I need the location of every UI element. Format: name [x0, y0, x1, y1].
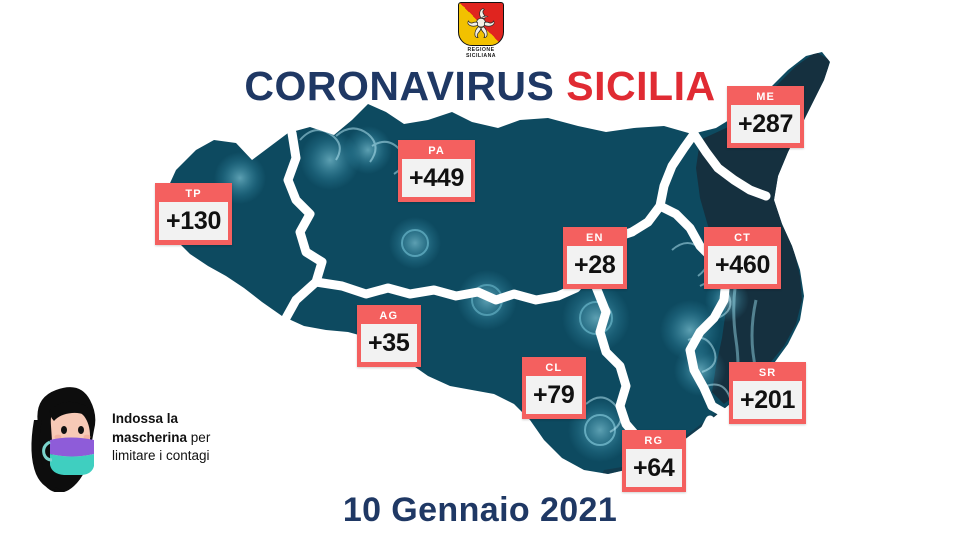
province-value-tp: +130 — [159, 202, 228, 240]
mask-notice-line2-bold: mascherina — [112, 430, 187, 445]
province-badge-tp[interactable]: TP +130 — [155, 183, 232, 245]
mask-notice-line1: Indossa la — [112, 411, 178, 426]
province-code-tp: TP — [159, 187, 228, 202]
province-code-pa: PA — [402, 144, 471, 159]
province-badge-rg[interactable]: RG +64 — [622, 430, 686, 492]
woman-wearing-mask-icon — [24, 380, 106, 492]
province-value-en: +28 — [567, 246, 623, 284]
mask-notice-line3: limitare i contagi — [112, 448, 210, 463]
date-label: 10 Gennaio 2021 — [0, 491, 960, 530]
province-value-ct: +460 — [708, 246, 777, 284]
province-badge-me[interactable]: ME +287 — [727, 86, 804, 148]
page-title-sicilia: SICILIA — [566, 63, 715, 109]
province-value-rg: +64 — [626, 449, 682, 487]
province-code-me: ME — [731, 90, 800, 105]
province-code-ct: CT — [708, 231, 777, 246]
province-value-pa: +449 — [402, 159, 471, 197]
page-title-coronavirus: CORONAVIRUS — [244, 63, 554, 109]
mask-notice-text: Indossa la mascherina per limitare i con… — [112, 410, 282, 466]
province-badge-sr[interactable]: SR +201 — [729, 362, 806, 424]
province-badge-pa[interactable]: PA +449 — [398, 140, 475, 202]
province-code-ag: AG — [361, 309, 417, 324]
trinacria-glyph-icon — [464, 7, 498, 41]
page-title: CORONAVIRUS SICILIA — [0, 66, 960, 107]
emblem-caption: REGIONE SICILIANA — [455, 47, 507, 59]
province-badge-cl[interactable]: CL +79 — [522, 357, 586, 419]
trinacria-shield-icon — [458, 2, 504, 46]
province-value-ag: +35 — [361, 324, 417, 362]
regione-siciliana-emblem: REGIONE SICILIANA — [455, 2, 507, 60]
mask-notice: Indossa la mascherina per limitare i con… — [22, 378, 272, 494]
province-value-sr: +201 — [733, 381, 802, 419]
province-code-cl: CL — [526, 361, 582, 376]
province-badge-ct[interactable]: CT +460 — [704, 227, 781, 289]
province-code-en: EN — [567, 231, 623, 246]
mask-notice-line2-reg: per — [187, 430, 210, 445]
province-badge-en[interactable]: EN +28 — [563, 227, 627, 289]
province-code-rg: RG — [626, 434, 682, 449]
province-value-me: +287 — [731, 105, 800, 143]
infographic-canvas: REGIONE SICILIANA CORONAVIRUS SICILIA TP… — [0, 0, 960, 540]
province-code-sr: SR — [733, 366, 802, 381]
province-badge-ag[interactable]: AG +35 — [357, 305, 421, 367]
province-value-cl: +79 — [526, 376, 582, 414]
